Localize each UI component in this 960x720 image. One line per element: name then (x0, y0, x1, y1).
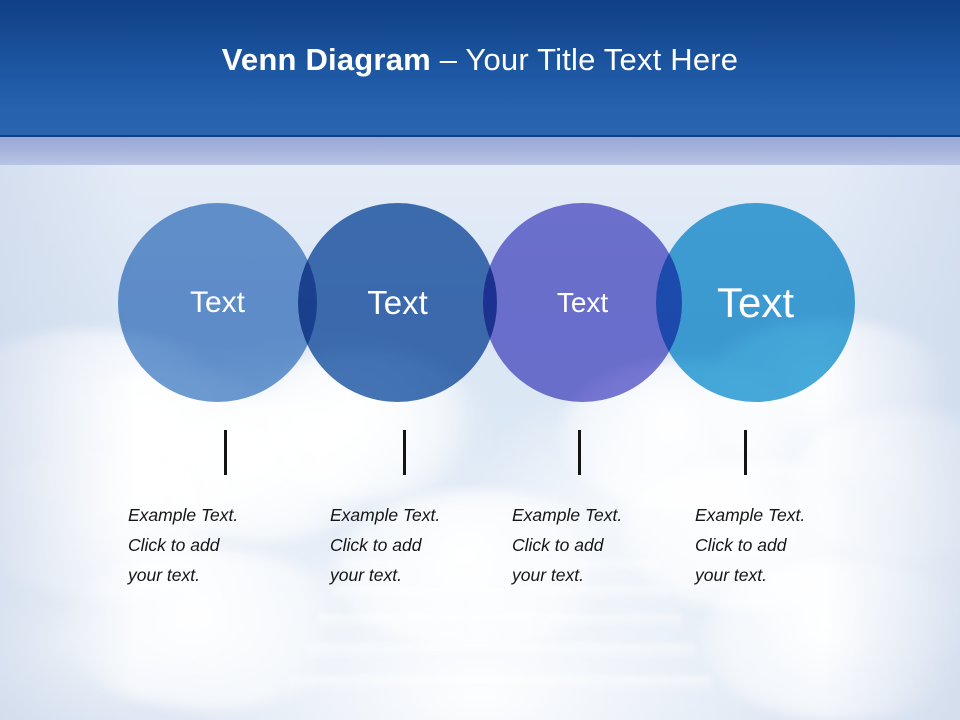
page-title: Venn Diagram – Your Title Text Here (0, 40, 960, 80)
connector-tick-2 (403, 430, 406, 475)
page-title-strong: Venn Diagram (222, 42, 431, 77)
caption-3[interactable]: Example Text. Click to add your text. (512, 500, 687, 590)
connector-tick-3 (578, 430, 581, 475)
venn-circle-2-label[interactable]: Text (295, 200, 500, 405)
connector-tick-4 (744, 430, 747, 475)
connector-tick-1 (224, 430, 227, 475)
slide-canvas: Venn Diagram – Your Title Text Here Text… (0, 0, 960, 720)
title-accent-band (0, 137, 960, 165)
venn-circle-4-label[interactable]: Text (653, 200, 858, 405)
caption-2[interactable]: Example Text. Click to add your text. (330, 500, 505, 590)
caption-1[interactable]: Example Text. Click to add your text. (128, 500, 303, 590)
venn-circle-1-label[interactable]: Text (115, 200, 320, 405)
caption-4[interactable]: Example Text. Click to add your text. (695, 500, 870, 590)
page-title-rest: – Your Title Text Here (431, 42, 738, 77)
